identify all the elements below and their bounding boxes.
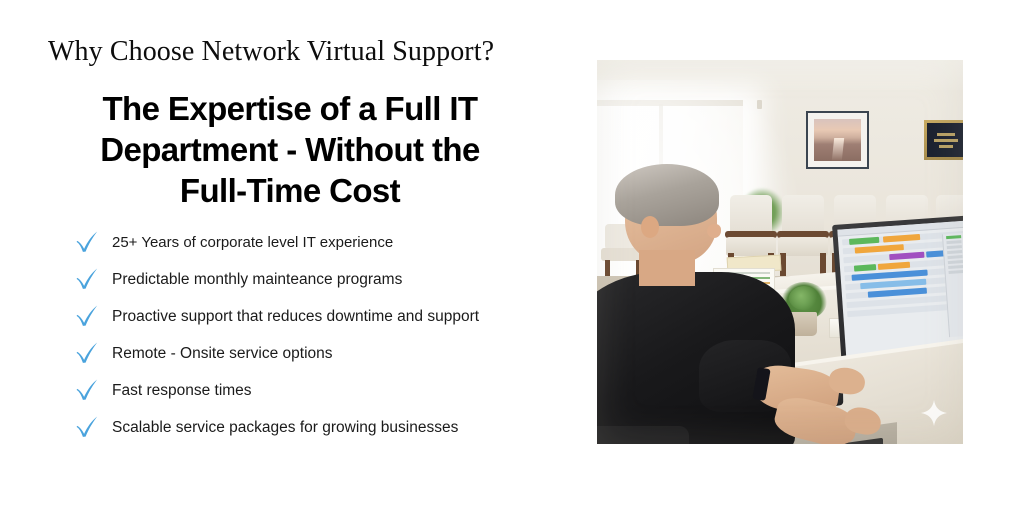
- list-item: Remote - Onsite service options: [74, 335, 574, 372]
- photo-vignette: [597, 60, 963, 444]
- eyebrow-heading: Why Choose Network Virtual Support?: [48, 36, 494, 68]
- left-content-column: Why Choose Network Virtual Support? The …: [0, 0, 580, 521]
- list-item: Scalable service packages for growing bu…: [74, 409, 574, 446]
- page-title: The Expertise of a Full IT Department - …: [60, 88, 520, 211]
- check-icon: [74, 377, 100, 403]
- headline-line-2: Department - Without the: [60, 129, 520, 170]
- check-icon: [74, 303, 100, 329]
- list-item: 25+ Years of corporate level IT experien…: [74, 224, 574, 261]
- list-item: Predictable monthly mainteance programs: [74, 261, 574, 298]
- headline-line-3: Full-Time Cost: [60, 170, 520, 211]
- list-item: Proactive support that reduces downtime …: [74, 298, 574, 335]
- list-item-label: Scalable service packages for growing bu…: [112, 418, 458, 438]
- check-icon: [74, 229, 100, 255]
- headline-line-1: The Expertise of a Full IT: [60, 88, 520, 129]
- list-item: Fast response times: [74, 372, 574, 409]
- benefits-list: 25+ Years of corporate level IT experien…: [74, 224, 574, 446]
- check-icon: [74, 340, 100, 366]
- list-item-label: Proactive support that reduces downtime …: [112, 307, 479, 327]
- check-icon: [74, 266, 100, 292]
- list-item-label: Predictable monthly mainteance programs: [112, 270, 402, 290]
- list-item-label: Fast response times: [112, 381, 252, 401]
- sparkle-icon: [921, 400, 947, 426]
- list-item-label: 25+ Years of corporate level IT experien…: [112, 233, 393, 253]
- check-icon: [74, 414, 100, 440]
- list-item-label: Remote - Onsite service options: [112, 344, 333, 364]
- office-photo: [597, 60, 963, 444]
- slide-root: Why Choose Network Virtual Support? The …: [0, 0, 1024, 521]
